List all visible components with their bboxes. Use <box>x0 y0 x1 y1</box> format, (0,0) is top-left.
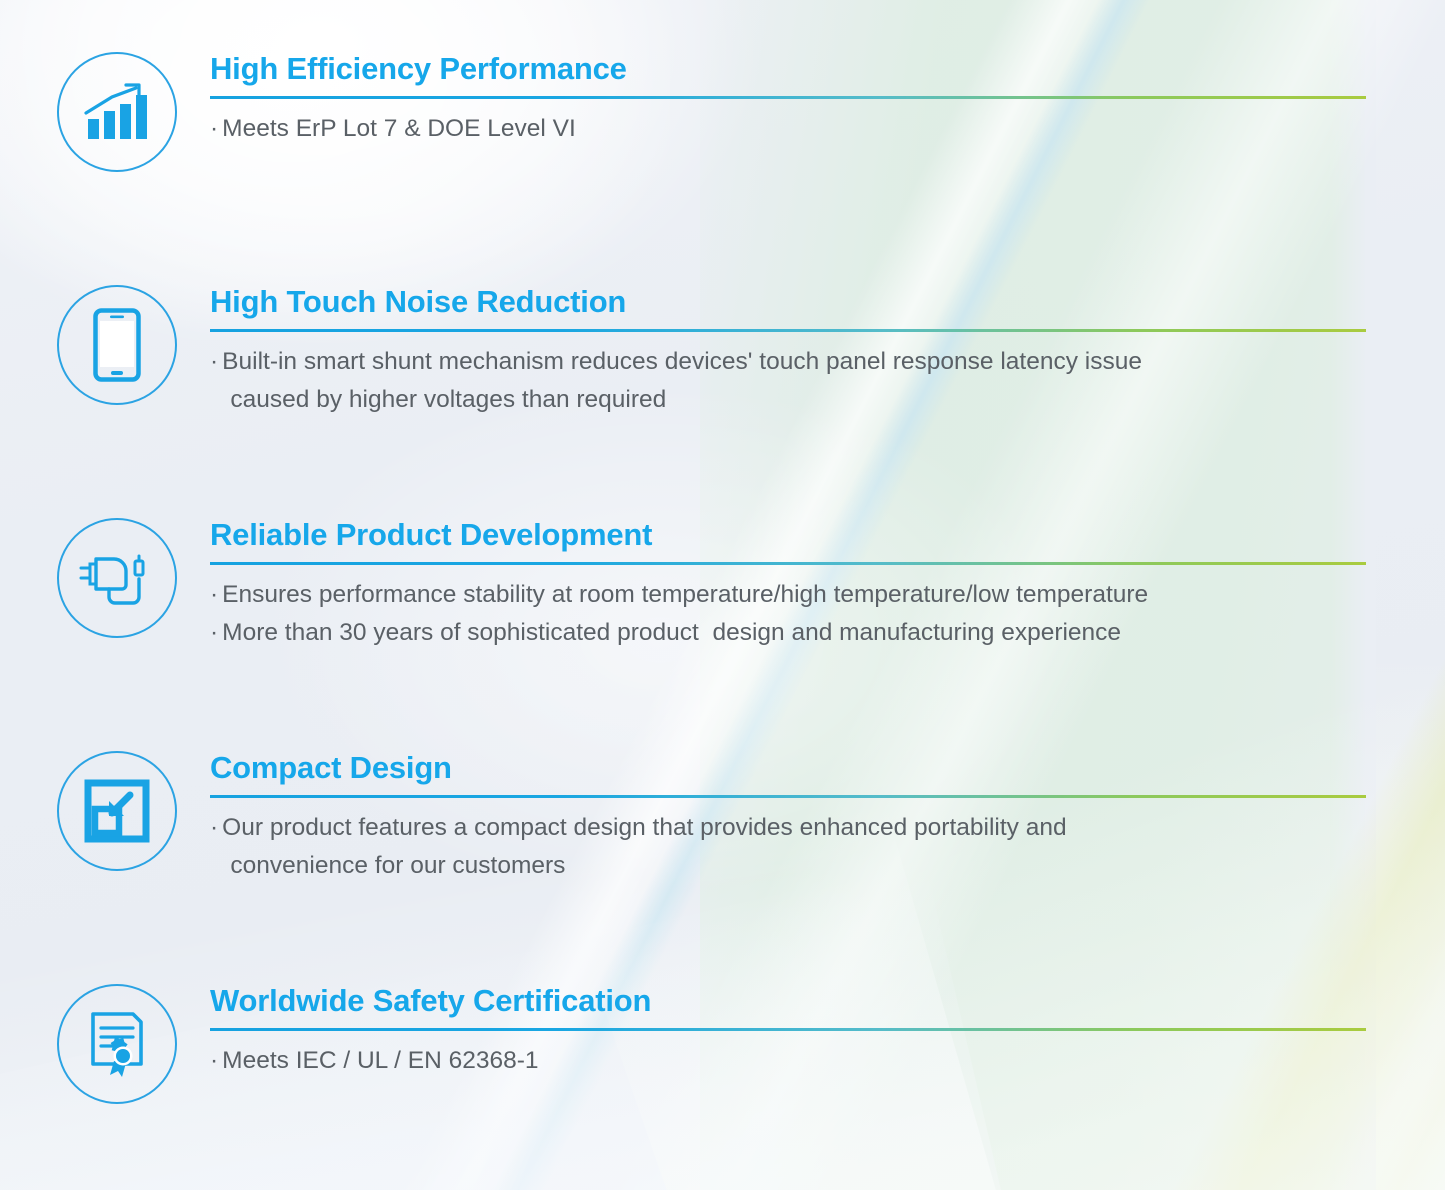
bullet-marker: · <box>210 581 218 608</box>
compact-resize-icon <box>57 751 177 871</box>
bullet-marker: · <box>210 814 218 841</box>
feature-bullet: ·Ensures performance stability at room t… <box>210 576 1368 613</box>
feature-body: Reliable Product Development ·Ensures pe… <box>210 518 1368 651</box>
feature-divider <box>210 1028 1366 1031</box>
feature-bullet: ·Meets IEC / UL / EN 62368-1 <box>210 1042 1368 1079</box>
feature-title: High Touch Noise Reduction <box>210 285 1368 318</box>
feature-divider <box>210 795 1366 798</box>
bullet-marker: · <box>210 348 218 375</box>
feature-bullet: ·Meets ErP Lot 7 & DOE Level VI <box>210 110 1368 147</box>
bullet-text: Meets IEC / UL / EN 62368-1 <box>222 1047 538 1074</box>
bullet-text: Meets ErP Lot 7 & DOE Level VI <box>222 115 576 142</box>
feature-bullet: ·Our product features a compact design t… <box>210 809 1368 883</box>
feature-title: Compact Design <box>210 751 1368 784</box>
feature-body: Compact Design ·Our product features a c… <box>210 751 1368 884</box>
feature-body: High Efficiency Performance ·Meets ErP L… <box>210 52 1368 148</box>
power-adapter-icon <box>57 518 177 638</box>
feature-bullets: ·Ensures performance stability at room t… <box>210 576 1368 650</box>
certificate-award-icon <box>57 984 177 1104</box>
bullet-marker: · <box>210 1047 218 1074</box>
bullet-text: More than 30 years of sophisticated prod… <box>222 619 1121 646</box>
feature-title: Worldwide Safety Certification <box>210 984 1368 1017</box>
bullet-text: Our product features a compact design th… <box>210 814 1067 878</box>
bullet-text: Built-in smart shunt mechanism reduces d… <box>210 348 1142 412</box>
feature-title: High Efficiency Performance <box>210 52 1368 85</box>
feature-body: Worldwide Safety Certification ·Meets IE… <box>210 984 1368 1080</box>
feature-divider <box>210 562 1366 565</box>
feature-bullets: ·Our product features a compact design t… <box>210 809 1368 883</box>
feature-bullets: ·Built-in smart shunt mechanism reduces … <box>210 343 1368 417</box>
feature-title: Reliable Product Development <box>210 518 1368 551</box>
feature-bullet: ·Built-in smart shunt mechanism reduces … <box>210 343 1368 417</box>
feature-list: High Efficiency Performance ·Meets ErP L… <box>0 0 1445 1190</box>
bar-chart-growth-icon <box>57 52 177 172</box>
bullet-marker: · <box>210 115 218 142</box>
feature-bullet: ·More than 30 years of sophisticated pro… <box>210 614 1368 651</box>
bullet-marker: · <box>210 619 218 646</box>
bullet-text: Ensures performance stability at room te… <box>222 581 1148 608</box>
feature-body: High Touch Noise Reduction ·Built-in sma… <box>210 285 1368 418</box>
feature-bullets: ·Meets IEC / UL / EN 62368-1 <box>210 1042 1368 1079</box>
smartphone-icon <box>57 285 177 405</box>
feature-bullets: ·Meets ErP Lot 7 & DOE Level VI <box>210 110 1368 147</box>
feature-divider <box>210 329 1366 332</box>
feature-divider <box>210 96 1366 99</box>
